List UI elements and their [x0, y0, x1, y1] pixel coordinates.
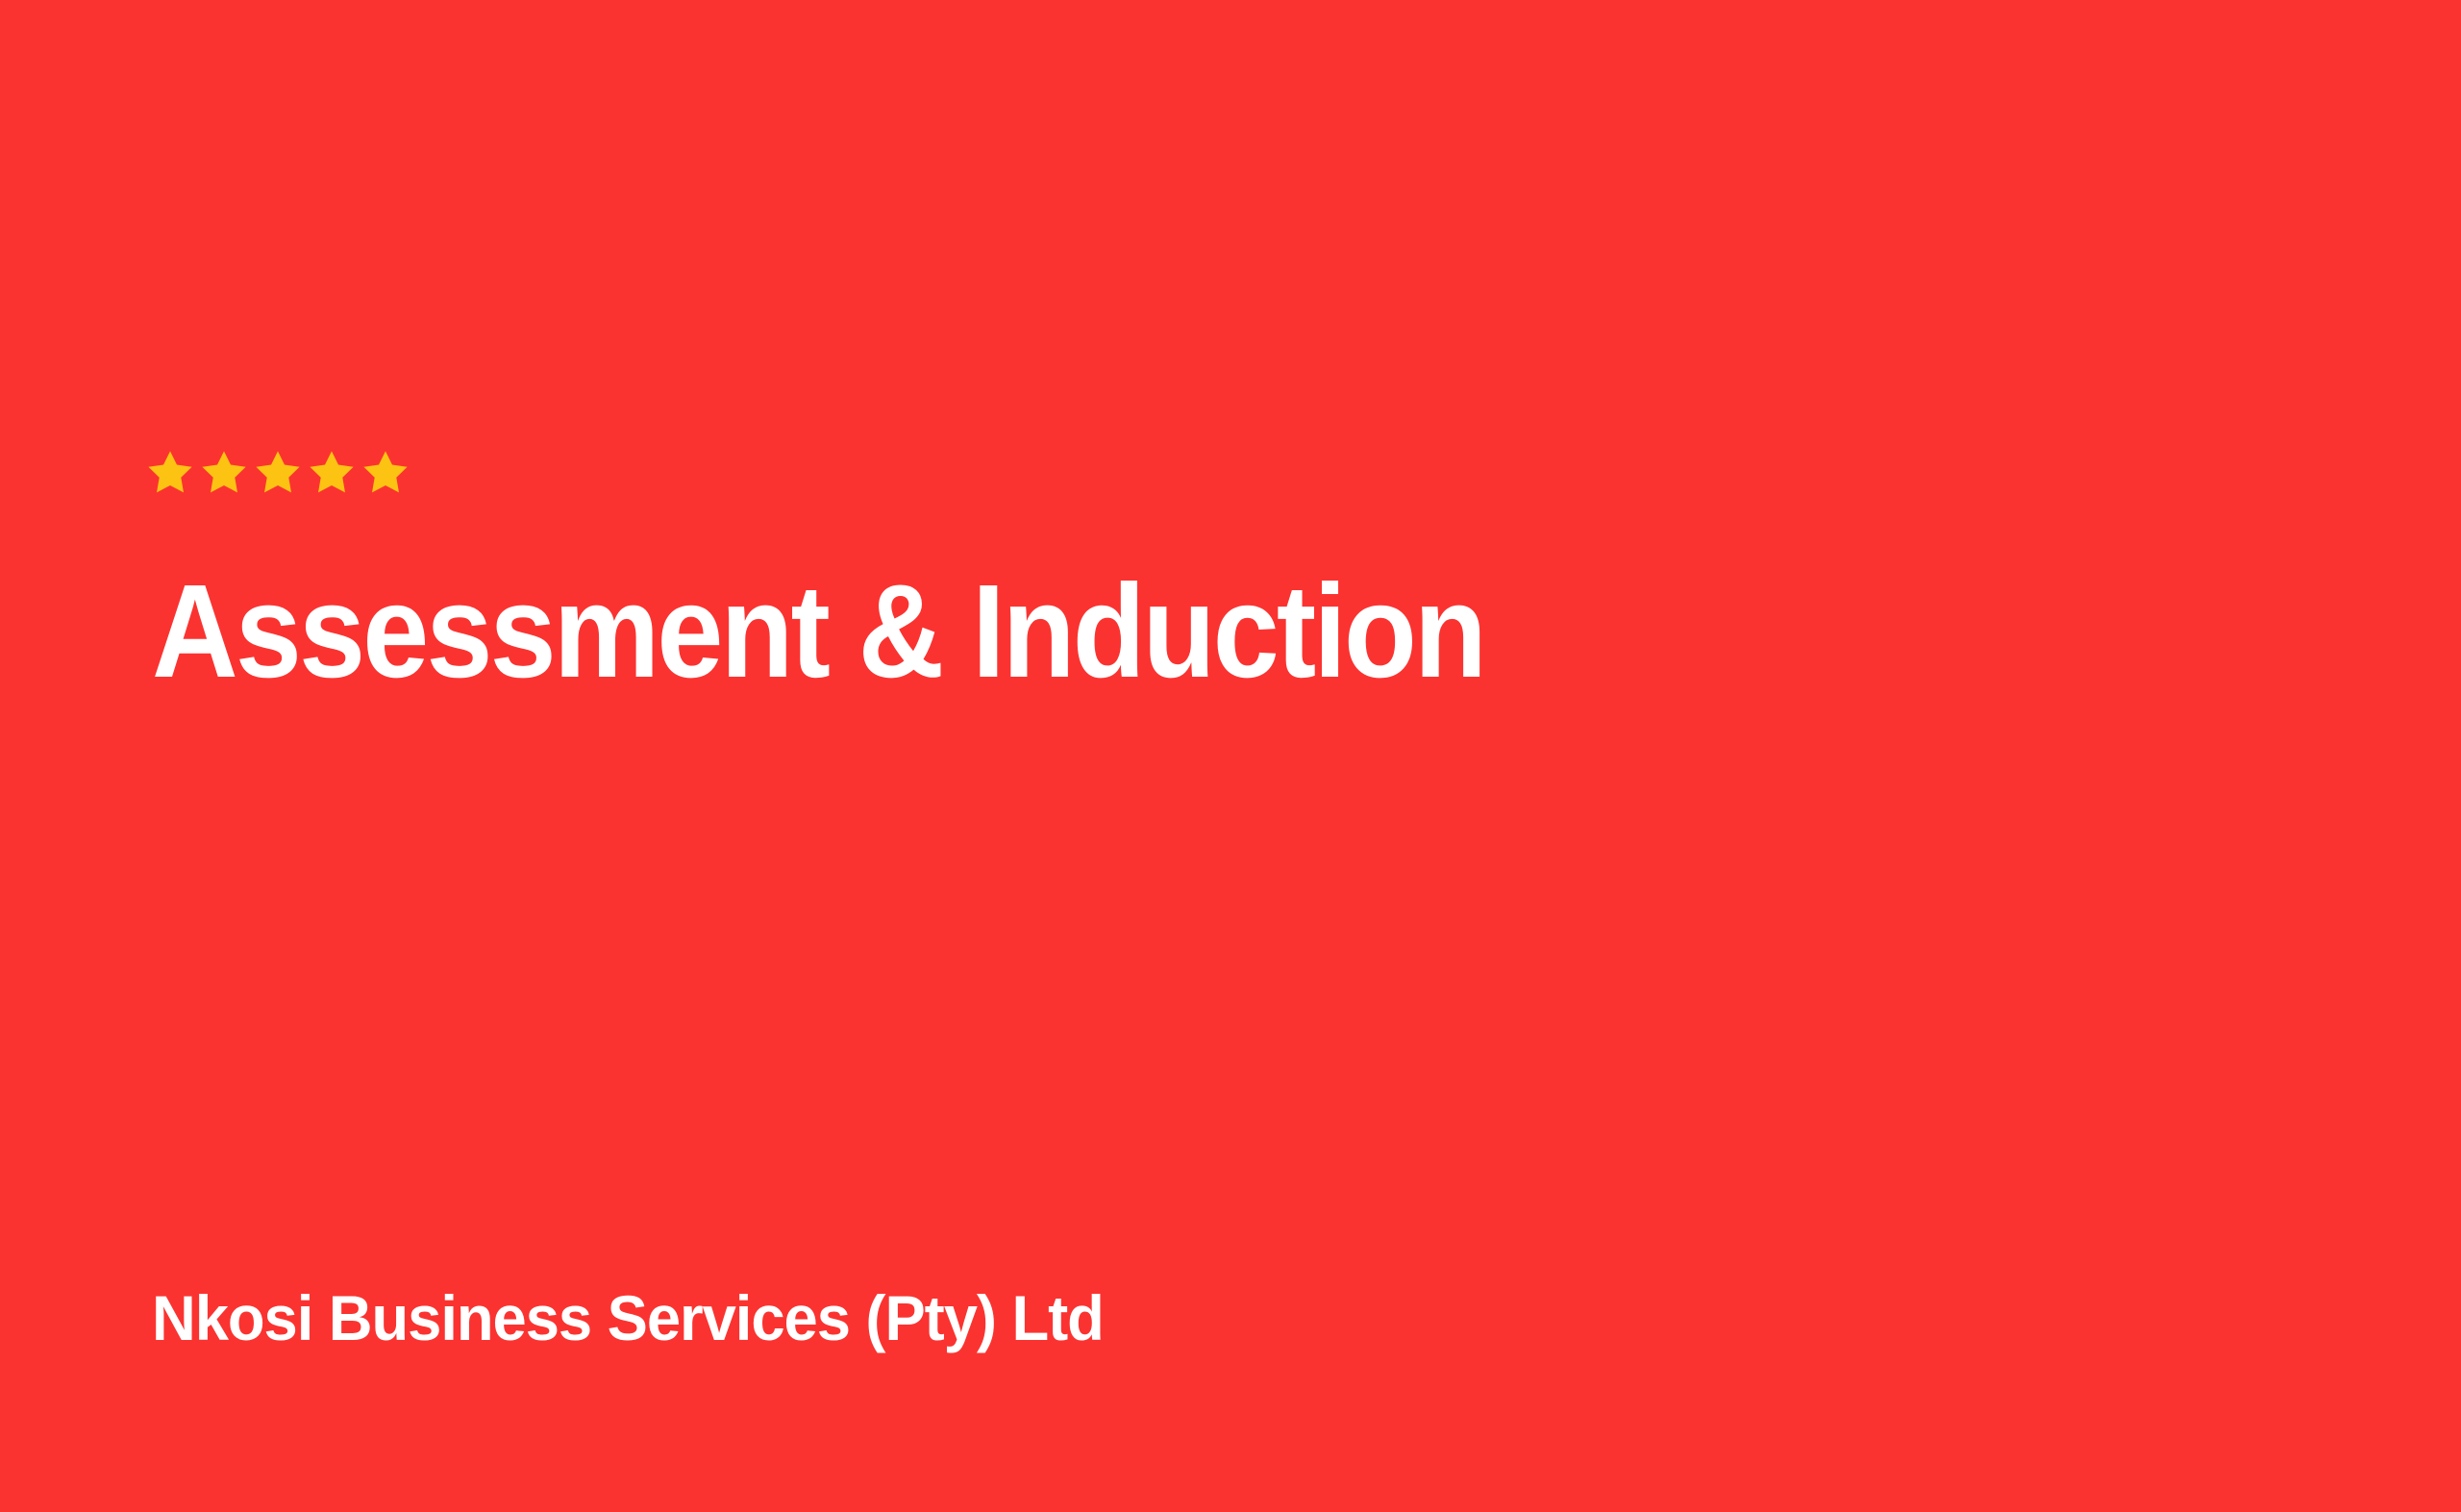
- star-icon: [254, 448, 302, 496]
- page-title: Assessment & Induction: [152, 565, 1484, 698]
- star-icon: [200, 448, 248, 496]
- title-slide: Assessment & Induction Nkosi Business Se…: [0, 0, 2461, 1512]
- star-icon: [146, 448, 194, 496]
- star-rating: [146, 448, 410, 496]
- star-icon: [308, 448, 356, 496]
- star-icon: [361, 448, 410, 496]
- company-name: Nkosi Business Services (Pty) Ltd: [152, 1286, 1104, 1350]
